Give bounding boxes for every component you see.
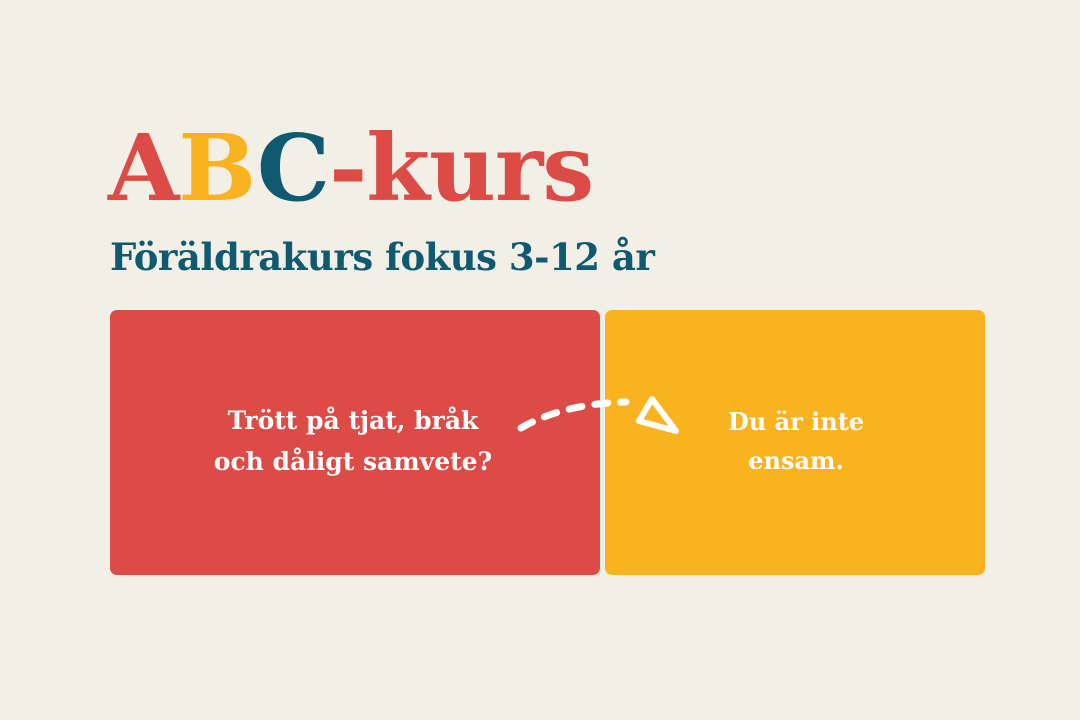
title-suffix: -kurs (329, 114, 593, 222)
panel-reassurance-text: Du är inte ensam. (728, 403, 864, 481)
poster-canvas: ABC-kurs Föräldrakurs fokus 3-12 år Tröt… (0, 0, 1080, 720)
panel-reassurance: Du är inte ensam. (605, 310, 985, 575)
title-letter-a: A (108, 114, 178, 222)
title-letter-c: C (257, 114, 329, 222)
panel-problem: Trött på tjat, bråk och dåligt samvete? (110, 310, 600, 575)
panel-problem-text: Trött på tjat, bråk och dåligt samvete? (214, 401, 492, 482)
page-title: ABC-kurs (108, 122, 593, 214)
page-subtitle: Föräldrakurs fokus 3-12 år (110, 239, 654, 276)
title-letter-b: B (178, 114, 256, 222)
